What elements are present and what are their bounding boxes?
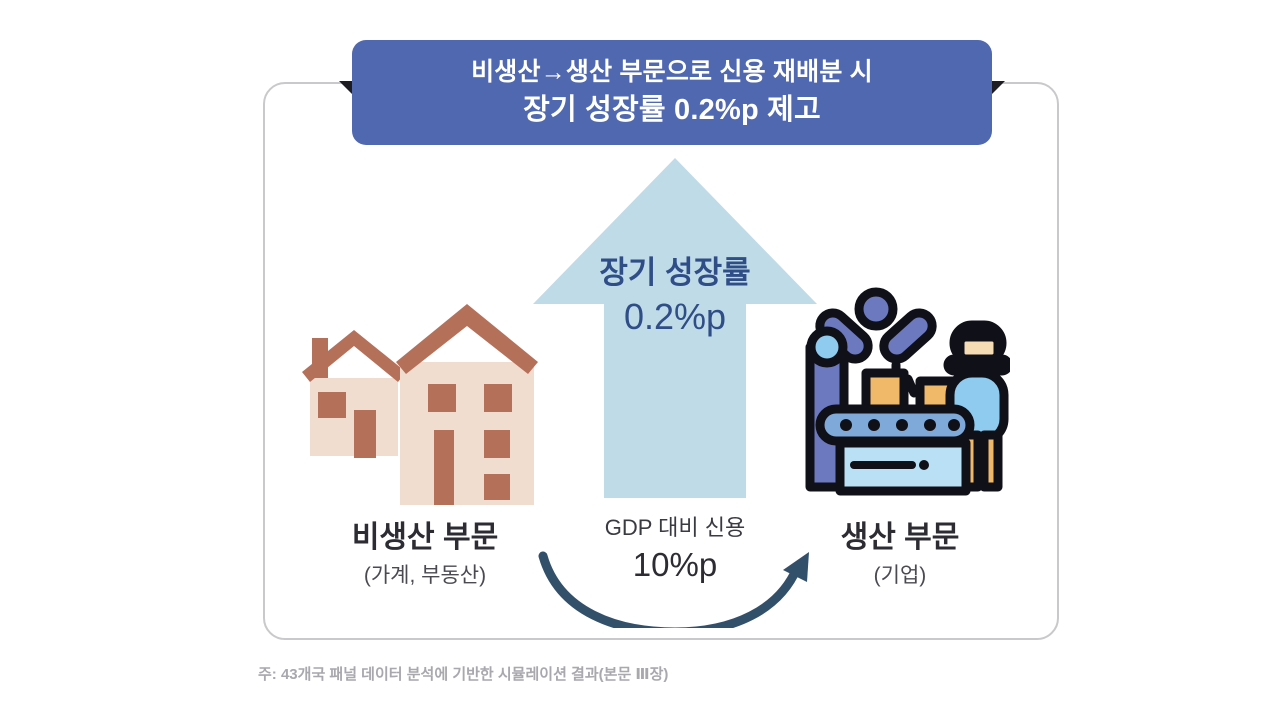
- growth-up-arrow-icon: [533, 158, 817, 498]
- ribbon-tail-left-icon: [339, 81, 353, 95]
- ribbon-tail-right-icon: [991, 81, 1005, 95]
- center-metric-value: 10%p: [560, 546, 790, 584]
- right-sector-detail: (기업): [790, 563, 1010, 588]
- right-sector-name: 생산 부문: [790, 520, 1010, 556]
- left-sector-detail: (가계, 부동산): [290, 563, 560, 588]
- banner-line-2: 장기 성장률 0.2%p 제고: [523, 92, 821, 128]
- title-banner: 비생산→생산 부문으로 신용 재배분 시 장기 성장률 0.2%p 제고: [352, 40, 992, 145]
- left-sector-name: 비생산 부문: [290, 520, 560, 556]
- factory-icon: [788, 285, 1010, 510]
- houses-icon: [288, 300, 560, 505]
- center-metric: GDP 대비 신용 10%p: [560, 510, 790, 584]
- right-sector-label: 생산 부문 (기업): [790, 520, 1010, 588]
- left-sector-label: 비생산 부문 (가계, 부동산): [290, 520, 560, 588]
- banner-line-1: 비생산→생산 부문으로 신용 재배분 시: [471, 57, 873, 88]
- footnote: 주: 43개국 패널 데이터 분석에 기반한 시뮬레이션 결과(본문 Ⅲ장): [258, 663, 668, 684]
- center-metric-label: GDP 대비 신용: [560, 510, 790, 542]
- infographic-canvas: 장기 성장률 0.2%p: [0, 0, 1280, 720]
